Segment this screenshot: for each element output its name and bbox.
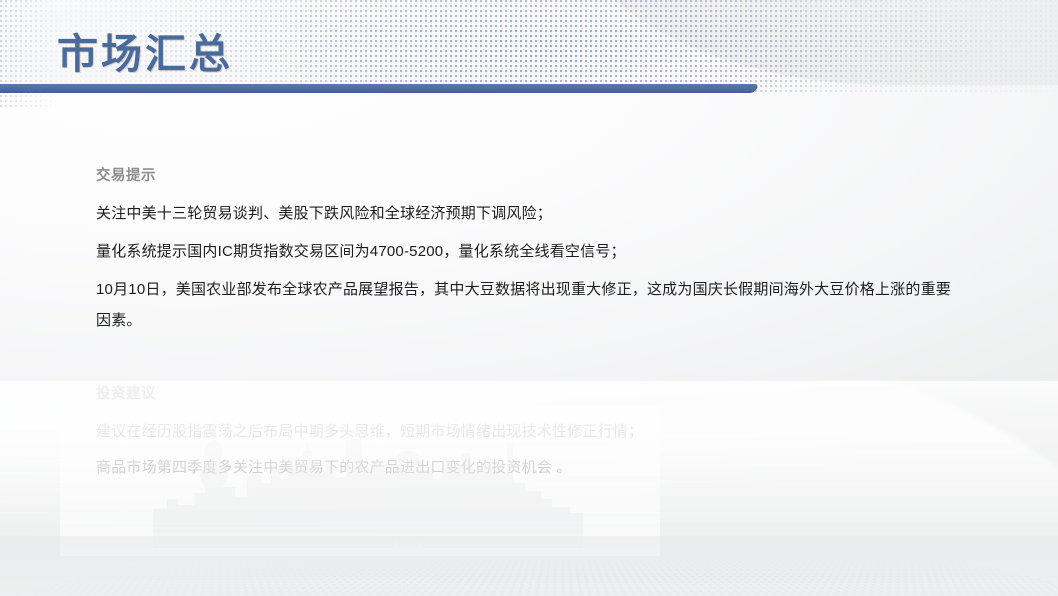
left-dot-grid-icon: [0, 0, 60, 110]
header-accent-bar: [0, 84, 752, 93]
header-curve-shade: [560, 0, 1058, 85]
slide-market-summary: 市场汇总 交易提示 关注中美十三轮贸易谈判、美股下跌风险和全球经济预期下调风险；…: [0, 0, 1058, 596]
section-paragraph: 10月10日，美国农业部发布全球农产品展望报告，其中大豆数据将出现重大修正，这成…: [96, 274, 958, 336]
section-line: 量化系统提示国内IC期货指数交易区间为4700-5200，量化系统全线看空信号；: [96, 236, 976, 267]
page-title: 市场汇总: [57, 20, 233, 80]
section-line: 关注中美十三轮贸易谈判、美股下跌风险和全球经济预期下调风险；: [96, 198, 976, 229]
bottom-decoration: [0, 381, 1058, 596]
section-trading-tips: 交易提示 关注中美十三轮贸易谈判、美股下跌风险和全球经济预期下调风险； 量化系统…: [96, 164, 976, 336]
section-heading: 交易提示: [96, 164, 976, 185]
world-map-dot-grid-dense-icon: [300, 0, 860, 92]
bottom-band: [0, 536, 1058, 596]
